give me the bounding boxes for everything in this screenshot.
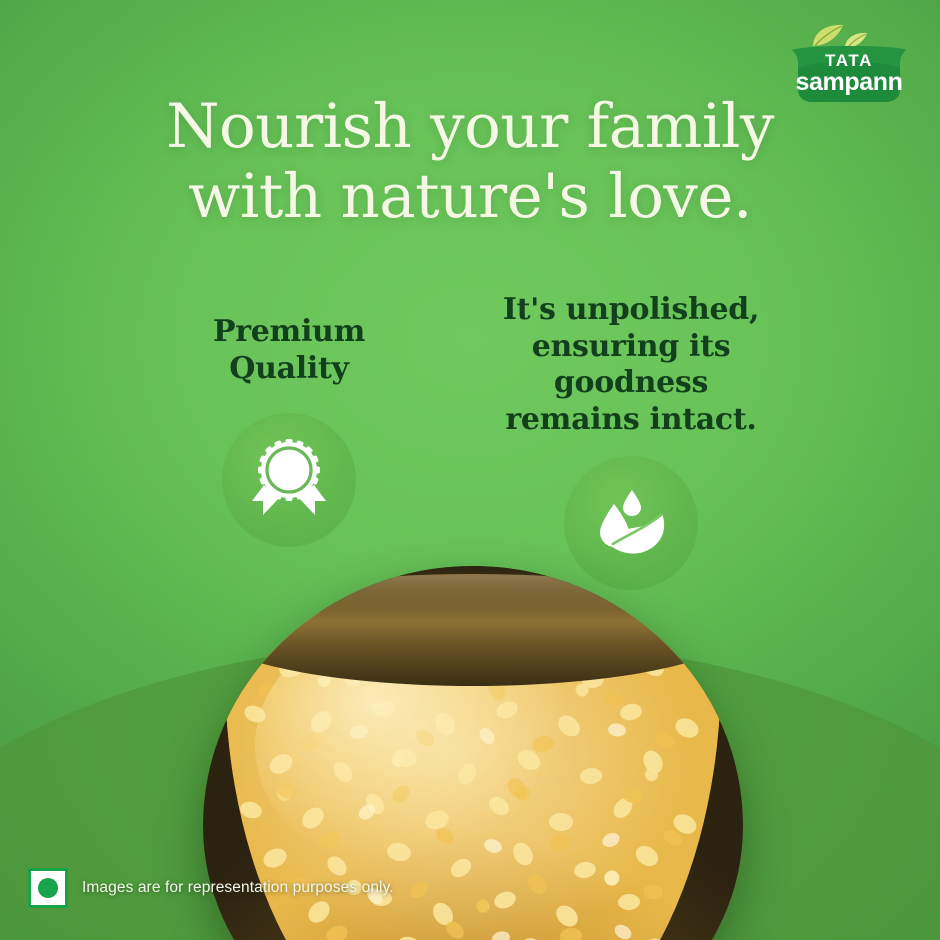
feature-row: Premium Quality bbox=[0, 292, 940, 590]
headline-line-1: Nourish your family bbox=[166, 91, 774, 162]
feature-premium-line-1: Premium bbox=[213, 314, 365, 351]
feature-premium-line-2: Quality bbox=[213, 351, 365, 388]
feature-unpolished-line-1: It's unpolished, bbox=[461, 292, 801, 329]
award-badge-icon bbox=[250, 439, 328, 521]
headline: Nourish your family with nature's love. bbox=[0, 92, 940, 231]
vegetarian-dot bbox=[38, 878, 58, 898]
advertisement-canvas: TATA sampann Nourish your family with na… bbox=[0, 0, 940, 940]
feature-title-unpolished: It's unpolished, ensuring its goodness r… bbox=[461, 292, 801, 438]
feature-unpolished: It's unpolished, ensuring its goodness r… bbox=[461, 292, 801, 590]
headline-line-2: with nature's love. bbox=[0, 162, 940, 232]
feature-title-premium: Premium Quality bbox=[213, 292, 365, 387]
vegetarian-mark bbox=[28, 868, 68, 908]
bowl-rim-highlight bbox=[217, 574, 729, 670]
feature-unpolished-line-2: ensuring its goodness bbox=[461, 329, 801, 402]
footer-bar: Images are for representation purposes o… bbox=[28, 868, 394, 908]
disclaimer-text: Images are for representation purposes o… bbox=[82, 879, 394, 897]
bowl-rim bbox=[203, 566, 743, 686]
feature-icon-circle-premium bbox=[222, 413, 356, 547]
feature-premium-quality: Premium Quality bbox=[139, 292, 439, 547]
brand-logo[interactable]: TATA sampann bbox=[782, 22, 916, 102]
feature-unpolished-line-3: remains intact. bbox=[461, 402, 801, 439]
leaf-water-drop-icon bbox=[591, 486, 671, 560]
